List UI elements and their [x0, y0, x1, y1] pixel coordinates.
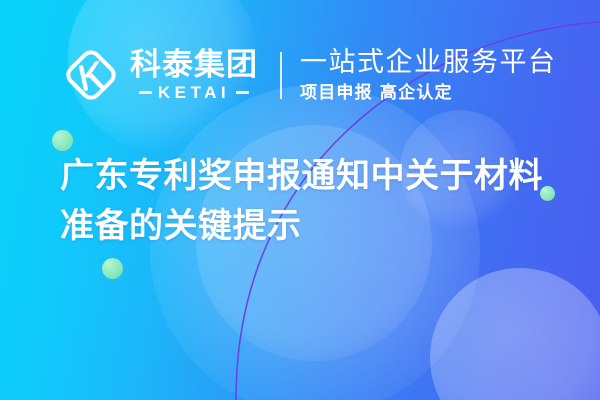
wordmark-rule-left-icon — [139, 91, 152, 94]
wordmark-rule-right-icon — [236, 91, 249, 94]
header-divider — [280, 52, 282, 99]
mint-dot-upper-left-decoration — [52, 130, 73, 151]
brand-name-en: KETAI — [158, 84, 230, 101]
brand-name-en-row: KETAI — [139, 84, 249, 101]
brand-logo[interactable]: 科泰集团 KETAI — [62, 46, 258, 104]
mint-dot-mid-left-decoration — [102, 258, 123, 279]
slogan-secondary: 项目申报 高企认定 — [300, 83, 557, 103]
promo-banner: 科泰集团 KETAI 一站式企业服务平台 项目申报 高企认定 广东专利奖申报通知… — [0, 0, 600, 400]
brand-name-cn: 科泰集团 — [130, 49, 258, 82]
circle-bottom-right-decoration — [430, 268, 600, 400]
slogan-block: 一站式企业服务平台 项目申报 高企认定 — [300, 47, 557, 104]
page-title: 广东专利奖申报通知中关于材料准备的关键提示 — [60, 152, 560, 252]
brand-logo-wordmark: 科泰集团 KETAI — [130, 49, 258, 101]
banner-header: 科泰集团 KETAI 一站式企业服务平台 项目申报 高企认定 — [62, 38, 557, 112]
slogan-primary: 一站式企业服务平台 — [300, 47, 557, 78]
ketai-diamond-k-logomark-icon — [62, 46, 120, 104]
